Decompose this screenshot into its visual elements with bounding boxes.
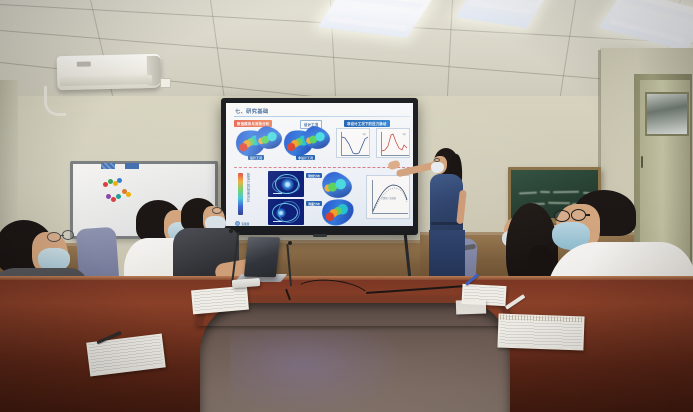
chart-performance-legend: 计算值 / 实验值	[381, 196, 396, 200]
power-outlet	[160, 78, 171, 88]
microphone-head-icon	[229, 229, 233, 233]
slide-title-rule	[234, 116, 410, 117]
door-window	[645, 92, 689, 136]
magnet	[103, 182, 108, 187]
ac-vent-icon	[60, 75, 152, 86]
cfd-render-bottom-1	[319, 169, 356, 203]
cfd-caption-design: 设计工况	[248, 155, 264, 160]
slide-title: 七、研究基础	[235, 108, 269, 115]
slide-divider	[234, 167, 410, 168]
chart-pressure-offdesign: Cp	[376, 128, 410, 158]
magnet	[116, 194, 121, 199]
magnet	[126, 192, 131, 197]
ac-pipe	[44, 86, 66, 116]
chart-performance-curve: 计算值 / 实验值	[366, 175, 410, 219]
vorticity-caption-offdesign: 涡量分布	[306, 201, 322, 206]
vorticity-caption-design: 流线分布	[306, 173, 322, 178]
person-presenter	[418, 148, 488, 288]
ac-display-icon	[77, 61, 91, 66]
cfd-render-bottom-2	[319, 196, 356, 226]
chart-pressure-design: Cp	[336, 128, 370, 158]
presenter-face-mask	[431, 162, 444, 173]
air-conditioner	[57, 54, 162, 91]
tv-logo-foot	[313, 234, 327, 237]
slide-tag-pressure: 非设计工况下的压力脉动	[344, 120, 390, 127]
whiteboard-clip-1	[101, 163, 115, 169]
vorticity-panel-offdesign	[268, 199, 304, 225]
laptop[interactable]	[244, 237, 280, 278]
presenter-glasses-icon	[434, 158, 440, 162]
magnet	[117, 178, 122, 183]
door-handle-icon[interactable]	[641, 156, 643, 168]
table-edge	[0, 276, 693, 280]
student-1-glasses-icon	[47, 232, 61, 242]
notepad[interactable]	[456, 299, 486, 314]
magnet	[111, 197, 116, 202]
meeting-room-photo: 七、研究基础 数值模拟与流场分析 设计工况 非设计工况下的压力脉动 设计工况 非…	[0, 0, 693, 412]
microphone-head-icon	[288, 241, 292, 245]
vorticity-panel-design	[268, 171, 304, 197]
student-5-glasses-icon	[571, 209, 586, 221]
notepad[interactable]	[191, 286, 249, 315]
student-3-glasses-icon	[212, 207, 222, 214]
student-5-glasses-icon	[554, 210, 570, 222]
presenter-dress-skirt	[429, 230, 465, 276]
cfd-caption-offdesign: 非设计工况	[296, 155, 315, 160]
whiteboard-clip-2	[125, 163, 139, 169]
